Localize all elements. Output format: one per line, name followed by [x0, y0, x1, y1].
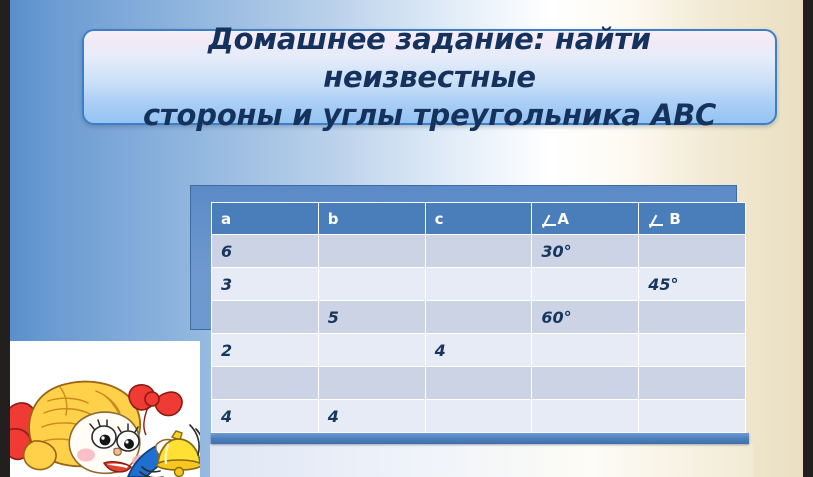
cell-c[interactable]: [426, 400, 532, 432]
cell-b[interactable]: [319, 235, 425, 267]
table-row: 5 60°: [212, 301, 745, 333]
column-header-a: a: [212, 203, 318, 234]
header-label-a: a: [221, 210, 231, 228]
title-line-1: Домашнее задание: найти неизвестные: [208, 22, 651, 94]
cell-angle-b[interactable]: 45°: [639, 268, 745, 300]
table-row: 3 45°: [212, 268, 745, 300]
cell-angle-a[interactable]: 30°: [532, 235, 638, 267]
cell-angle-a[interactable]: [532, 400, 638, 432]
header-label-angle-a: A: [557, 210, 569, 228]
cell-angle-b[interactable]: [639, 367, 745, 399]
cell-c[interactable]: 4: [426, 334, 532, 366]
table-body: 6 30° 3 45° 5: [212, 235, 745, 432]
table-head: a b c A B: [212, 203, 745, 234]
cell-b[interactable]: 4: [319, 400, 425, 432]
cell-b[interactable]: [319, 334, 425, 366]
header-label-c: c: [435, 210, 444, 228]
slide-root: Домашнее задание: найти неизвестные стор…: [0, 0, 813, 477]
header-label-b: b: [328, 210, 339, 228]
angle-icon: [541, 212, 556, 226]
cell-c[interactable]: [426, 268, 532, 300]
table-row: 2 4: [212, 334, 745, 366]
cell-angle-a[interactable]: [532, 367, 638, 399]
table-row: 6 30°: [212, 235, 745, 267]
table-footer-bar: [211, 433, 749, 444]
cell-b[interactable]: 5: [319, 301, 425, 333]
left-frame-border: [0, 0, 10, 477]
illustration-box: [0, 341, 200, 477]
cell-angle-a[interactable]: [532, 334, 638, 366]
right-frame-border: [803, 0, 813, 477]
triangle-values-table: a b c A B 6 30°: [211, 202, 746, 433]
title-line-2: стороны и углы треугольника ABC: [143, 98, 716, 132]
cell-a[interactable]: 2: [212, 334, 318, 366]
column-header-angle-b: B: [639, 203, 745, 234]
cell-angle-b[interactable]: [639, 235, 745, 267]
cartoon-girl-with-bell-icon: [0, 341, 200, 477]
column-header-angle-a: A: [532, 203, 638, 234]
cell-a[interactable]: [212, 301, 318, 333]
cell-a[interactable]: [212, 367, 318, 399]
title-box: Домашнее задание: найти неизвестные стор…: [82, 29, 777, 125]
column-header-b: b: [319, 203, 425, 234]
cell-angle-b[interactable]: [639, 400, 745, 432]
cell-a[interactable]: 4: [212, 400, 318, 432]
cell-a[interactable]: 6: [212, 235, 318, 267]
cell-angle-b[interactable]: [639, 334, 745, 366]
table: a b c A B 6 30°: [211, 202, 746, 433]
cell-c[interactable]: [426, 235, 532, 267]
table-row: 4 4: [212, 400, 745, 432]
table-header-row: a b c A B: [212, 203, 745, 234]
cell-b[interactable]: [319, 367, 425, 399]
cell-angle-a[interactable]: 60°: [532, 301, 638, 333]
cell-angle-b[interactable]: [639, 301, 745, 333]
column-header-c: c: [426, 203, 532, 234]
angle-icon: [648, 212, 663, 226]
cell-c[interactable]: [426, 301, 532, 333]
cell-angle-a[interactable]: [532, 268, 638, 300]
cell-a[interactable]: 3: [212, 268, 318, 300]
table-row: [212, 367, 745, 399]
cell-c[interactable]: [426, 367, 532, 399]
cell-b[interactable]: [319, 268, 425, 300]
header-label-angle-b: B: [669, 210, 680, 228]
page-title: Домашнее задание: найти неизвестные стор…: [84, 20, 775, 135]
table-lower-panel: [210, 444, 753, 477]
